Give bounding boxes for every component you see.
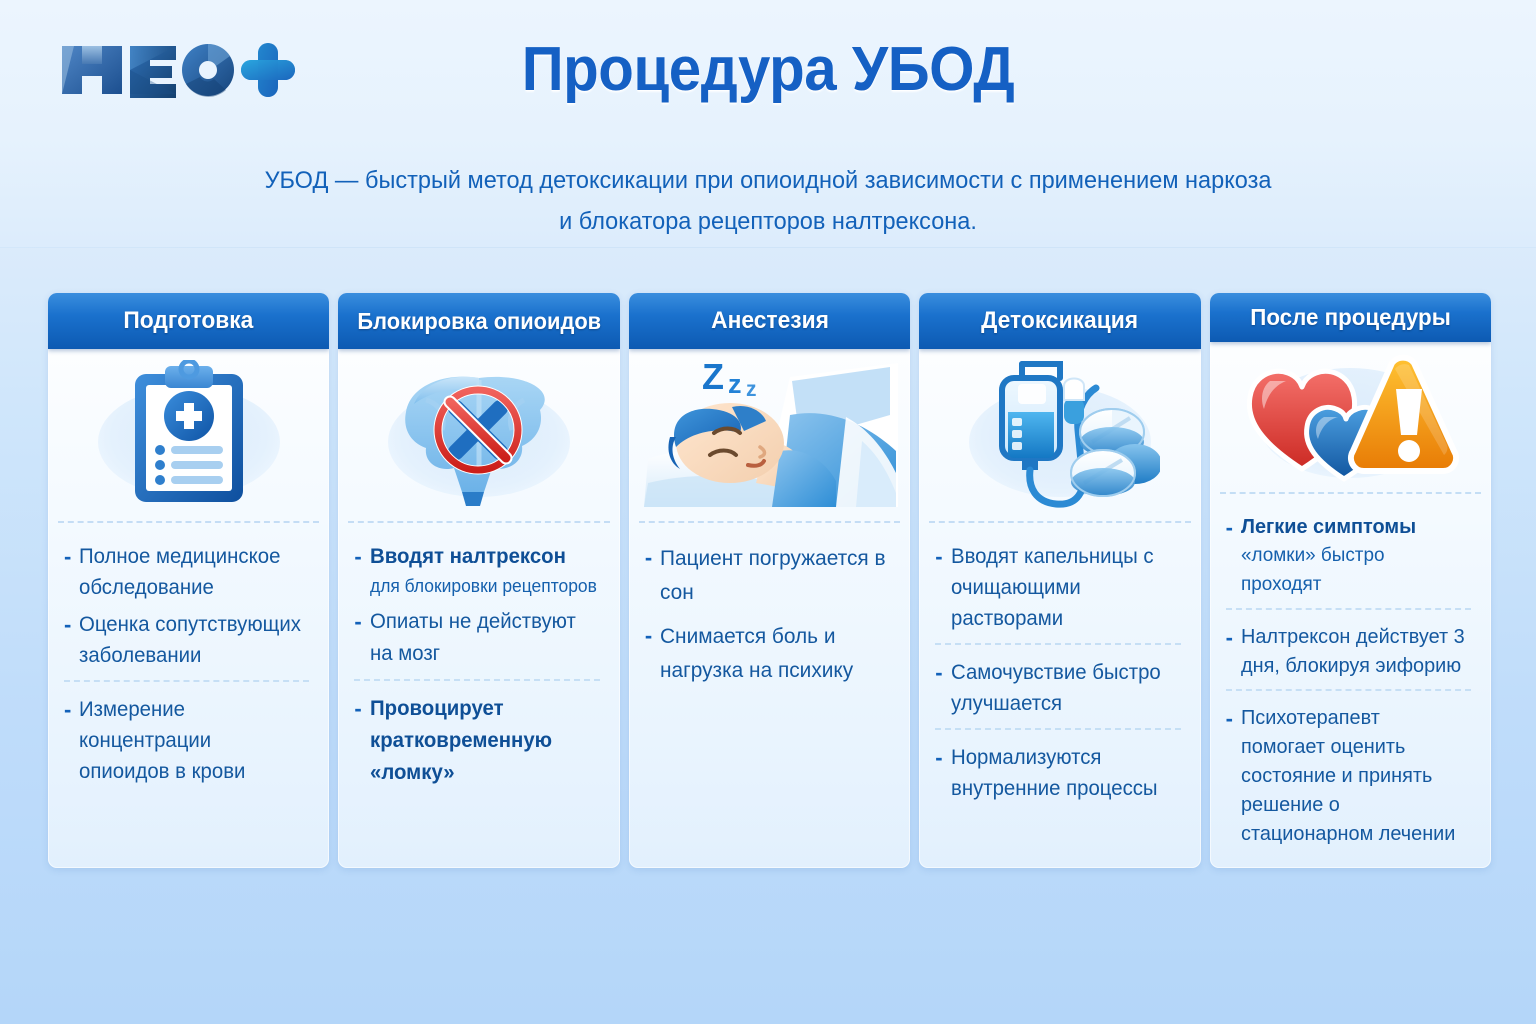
list-item: - Опиаты не действуют на мозг	[354, 606, 603, 670]
bullet-text: Психотерапевт помогает оценить состояние…	[1241, 703, 1468, 848]
bullet-dash: -	[935, 742, 942, 804]
stage-card-header: После процедуры	[1210, 293, 1491, 342]
list-item: - Вводят капельницы с очищающими раствор…	[935, 541, 1184, 634]
bullet-text: Снимается боль и нагрузка на психику	[660, 619, 887, 687]
bullet-text: Самочувствие быстро улучшается	[951, 657, 1178, 719]
list-item: - Оценка сопутствующих заболевании	[64, 609, 313, 671]
icon-divider	[1220, 492, 1481, 494]
stage-icon-area	[919, 349, 1200, 521]
hearts-warning-icon	[1240, 347, 1460, 487]
list-item: - Психотерапевт помогает оценить состоян…	[1226, 703, 1475, 848]
bullet-divider	[354, 679, 599, 681]
bullet-divider	[935, 728, 1180, 730]
bullet-subtext: «ломки» быстро проходят	[1241, 541, 1468, 599]
zzz-text: Z	[702, 356, 724, 397]
bullet-text: Легкие симптомы «ломки» быстро проходят	[1241, 512, 1468, 599]
stage-title: Блокировка опиоидов	[357, 308, 601, 335]
bullet-text-strong: Вводят налтрексон	[370, 545, 566, 568]
list-item: - Измерение концентрации опиоидов в кров…	[64, 694, 313, 787]
bullet-subtext: для блокировки рецепторов	[370, 573, 597, 600]
list-item: - Нормализуются внутренние процессы	[935, 742, 1184, 804]
list-item: - Снимается боль и нагрузка на психику	[645, 619, 894, 687]
bullet-text: Вводят налтрексон для блокировки рецепто…	[370, 541, 597, 600]
icon-divider	[58, 521, 319, 523]
stage-card-header: Подготовка	[48, 293, 329, 349]
stage-title: Подготовка	[124, 307, 254, 335]
list-item: - Легкие симптомы «ломки» быстро проходя…	[1226, 512, 1475, 599]
stage-title: Детоксикация	[981, 307, 1138, 335]
stage-bullets: - Пациент погружается в сон - Снимается …	[629, 523, 910, 868]
list-item: - Налтрексон действует 3 дня, блокируя э…	[1226, 622, 1475, 680]
bullet-dash: -	[64, 609, 71, 671]
list-item: - Вводят налтрексон для блокировки рецеп…	[354, 541, 603, 600]
icon-divider	[639, 521, 900, 523]
stage-title: После процедуры	[1250, 304, 1450, 331]
stage-icon-area	[338, 349, 619, 521]
bullet-dash: -	[354, 693, 361, 789]
bullet-dash: -	[1226, 703, 1233, 848]
bullet-dash: -	[645, 619, 652, 687]
bullet-text: Оценка сопутствующих заболевании	[79, 609, 306, 671]
bullet-text: Опиаты не действуют на мозг	[370, 606, 597, 670]
stage-bullets: - Вводят налтрексон для блокировки рецеп…	[338, 523, 619, 868]
subtitle-line-1: УБОД — быстрый метод детоксикации при оп…	[192, 160, 1344, 201]
stage-bullets: - Легкие симптомы «ломки» быстро проходя…	[1210, 494, 1491, 868]
bullet-dash: -	[645, 541, 652, 609]
stage-card-preparation[interactable]: Подготовка	[48, 293, 329, 868]
bullet-text: Полное медицинское обследование	[79, 541, 306, 603]
bullet-divider	[64, 680, 309, 682]
bullet-dash: -	[64, 694, 71, 787]
list-item: - Провоцирует кратковременную «ломку»	[354, 693, 603, 789]
list-item: - Пациент погружается в сон	[645, 541, 894, 609]
stage-card-opioid-blocking[interactable]: Блокировка опиоидов	[338, 293, 619, 868]
stages-row: Подготовка	[48, 293, 1491, 868]
stage-card-header: Детоксикация	[919, 293, 1200, 349]
stage-card-anesthesia[interactable]: Анестезия	[629, 293, 910, 868]
sleeping-patient-icon: Z z z	[640, 355, 900, 515]
brain-blocked-icon	[384, 360, 574, 510]
bullet-text: Нормализуются внутренние процессы	[951, 742, 1178, 804]
stage-icon-area	[1210, 342, 1491, 492]
svg-text:z: z	[728, 369, 742, 399]
bullet-dash: -	[935, 541, 942, 634]
stage-card-aftercare[interactable]: После процедуры	[1210, 293, 1491, 868]
stage-title: Анестезия	[711, 307, 829, 335]
bullet-text: Налтрексон действует 3 дня, блокируя эиф…	[1241, 622, 1468, 680]
bullet-dash: -	[1226, 622, 1233, 680]
bullet-text-strong: Легкие симптомы	[1241, 515, 1416, 538]
list-item: - Полное медицинское обследование	[64, 541, 313, 603]
bullet-text-strong: Провоцирует кратковременную «ломку»	[370, 697, 552, 784]
stage-card-header: Блокировка опиоидов	[338, 293, 619, 349]
bullet-divider	[935, 643, 1180, 645]
bullet-text: Провоцирует кратковременную «ломку»	[370, 693, 597, 789]
page-subtitle: УБОД — быстрый метод детоксикации при оп…	[192, 160, 1344, 242]
bullet-text: Пациент погружается в сон	[660, 541, 887, 609]
bullet-dash: -	[64, 541, 71, 603]
bullet-text: Измерение концентрации опиоидов в крови	[79, 694, 306, 787]
bullet-dash: -	[1226, 512, 1233, 599]
bullet-text: Вводят капельницы с очищающими растворам…	[951, 541, 1178, 634]
stage-bullets: - Полное медицинское обследование - Оцен…	[48, 523, 329, 868]
svg-text:z: z	[746, 378, 757, 401]
stage-card-detox[interactable]: Детоксикация	[919, 293, 1200, 868]
subtitle-line-2: и блокатора рецепторов налтрексона.	[192, 201, 1344, 242]
stage-card-header: Анестезия	[629, 293, 910, 349]
bullet-dash: -	[354, 606, 361, 670]
iv-drip-pills-icon	[960, 360, 1160, 510]
stage-bullets: - Вводят капельницы с очищающими раствор…	[919, 523, 1200, 868]
stage-icon-area	[48, 349, 329, 521]
bullet-dash: -	[935, 657, 942, 719]
clipboard-medical-icon	[119, 360, 259, 510]
stage-icon-area: Z z z	[629, 349, 910, 521]
list-item: - Самочувствие быстро улучшается	[935, 657, 1184, 719]
icon-divider	[348, 521, 609, 523]
bullet-divider	[1226, 689, 1471, 691]
icon-divider	[929, 521, 1190, 523]
page-title: Процедура УБОД	[46, 34, 1490, 105]
bullet-divider	[1226, 608, 1471, 610]
bullet-dash: -	[354, 541, 361, 600]
